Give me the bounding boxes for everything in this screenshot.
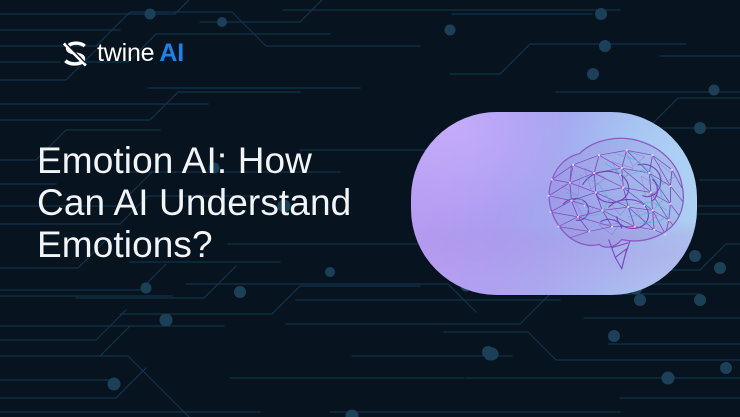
brand-name-accent: AI <box>159 39 184 67</box>
headline-line-2: Can AI Understand <box>37 182 407 224</box>
hero-image-card <box>411 112 697 295</box>
brand-wordmark: twineAI <box>97 41 184 66</box>
twine-logo-mark <box>62 40 89 67</box>
blog-hero-banner: twineAI Emotion AI: How Can AI Understan… <box>0 0 740 417</box>
wireframe-brain-icon <box>529 126 695 272</box>
brand-logo[interactable]: twineAI <box>62 40 184 67</box>
headline-line-1: Emotion AI: How <box>37 140 407 182</box>
headline-line-3: Emotions? <box>37 224 407 266</box>
brand-name-primary: twine <box>97 39 154 67</box>
page-title: Emotion AI: How Can AI Understand Emotio… <box>37 140 407 266</box>
